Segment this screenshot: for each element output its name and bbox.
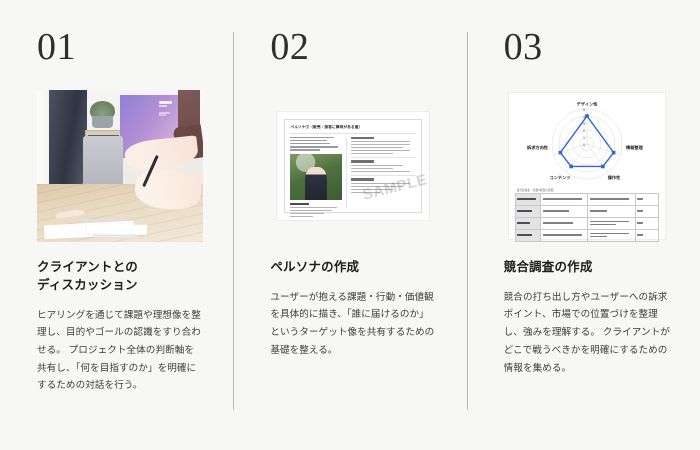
table-row-label (515, 242, 540, 243)
cell-bar (543, 210, 569, 211)
cell-bar (590, 233, 629, 234)
table-cell (541, 242, 588, 243)
cell-bar (590, 224, 616, 225)
table-cell (635, 206, 658, 218)
persona-meta-line (290, 137, 333, 139)
persona-text-line (351, 153, 394, 154)
table-cell (588, 242, 635, 243)
cell-bar (590, 221, 629, 222)
row-label-bar (517, 234, 532, 235)
screen-heading-bar (159, 101, 172, 104)
radar-axes (553, 109, 620, 172)
step-title-01-line1: クライアントとの (37, 260, 138, 274)
cell-bar (590, 210, 607, 211)
table-cell (635, 242, 658, 243)
persona-text-line (351, 189, 394, 190)
step-title-01: クライアントとの ディスカッション (37, 259, 203, 295)
persona-left-text-line (290, 213, 323, 214)
row-label-bar (517, 210, 532, 211)
radar-label-content: コンテンツ (549, 175, 570, 181)
meeting-photo (37, 90, 203, 242)
persona-text-line (351, 147, 403, 148)
photo-laptop (83, 136, 123, 185)
photo-plant-pot (92, 116, 114, 128)
persona-divider (351, 175, 417, 176)
step-number-03: 03 (504, 28, 670, 70)
cell-bar (543, 198, 582, 199)
radar-chart-svg: 5 4 3 2 1 0 デザイン性 情報整理 操作性 (515, 98, 659, 186)
table-row (515, 194, 658, 206)
row-label-bar (517, 222, 530, 223)
table-row-label (515, 206, 540, 218)
radar-label-design: デザイン性 (576, 101, 598, 108)
comparison-table-caption: 競合比較表（主要5項目の比較） (517, 188, 659, 192)
step-title-01-line2: ディスカッション (37, 278, 138, 292)
photo-notebook (93, 234, 138, 238)
table-cell (541, 230, 588, 242)
persona-document-preview: ペルソナ①〔販売・接客に興味がある層〕 (270, 90, 436, 242)
table-cell (635, 194, 658, 206)
persona-portrait-figure (305, 167, 328, 200)
persona-left-text-line (290, 210, 331, 211)
step-number-01: 01 (37, 28, 203, 70)
svg-text:3: 3 (583, 122, 585, 126)
persona-text-line (351, 171, 410, 172)
screen-text-bar-2 (159, 114, 167, 116)
persona-text-line (351, 150, 410, 151)
persona-portrait (290, 154, 341, 200)
persona-text-line (351, 183, 410, 184)
persona-document-title: ペルソナ①〔販売・接客に興味がある層〕 (290, 125, 416, 134)
table-row (515, 230, 658, 242)
persona-right-panel (346, 137, 417, 208)
slide-canvas: 01 (0, 0, 700, 450)
cell-bar (637, 198, 642, 199)
svg-text:4: 4 (583, 115, 585, 119)
step-body-01: ヒアリングを通じて課題や理想像を整理し、目的やゴールの認識をすり合わせる。 プロ… (37, 307, 203, 396)
cell-bar (543, 222, 573, 223)
step-title-02: ペルソナの作成 (270, 259, 436, 277)
table-row (515, 242, 658, 243)
radar-label-usability: 操作性 (607, 174, 620, 181)
cell-bar (637, 210, 642, 211)
step-column-02: 02 ペルソナ①〔販売・接客に興味がある層〕 (233, 0, 466, 450)
step-column-03: 03 (467, 0, 700, 450)
persona-text-line (351, 141, 410, 142)
persona-section-heading (351, 160, 375, 162)
three-column-layout: 01 (0, 0, 700, 450)
persona-meta-line (290, 146, 337, 148)
photo-hand-left (55, 209, 85, 219)
persona-left-text-line (290, 207, 336, 208)
cell-bar (590, 198, 629, 199)
persona-left-caption (290, 203, 309, 205)
table-cell (541, 194, 588, 206)
table-cell (635, 230, 658, 242)
table-cell (635, 218, 658, 230)
cell-bar (637, 222, 642, 223)
persona-text-line (351, 192, 380, 193)
persona-text-line (351, 168, 394, 169)
step-body-03: 競合の打ち出し方やユーザーへの訴求ポイント、市場での位置づけを整理し、強みを理解… (504, 289, 670, 378)
cell-bar (543, 234, 582, 235)
radar-label-appeal: 訴求方向性 (527, 144, 549, 151)
table-cell (588, 230, 635, 242)
table-cell (588, 206, 635, 218)
step-title-03: 競合調査の作成 (504, 259, 670, 277)
row-label-bar (517, 198, 536, 199)
svg-text:0: 0 (583, 143, 585, 147)
competitor-chart-preview: 5 4 3 2 1 0 デザイン性 情報整理 操作性 (504, 90, 670, 242)
screen-subheading-bar (159, 105, 168, 107)
step-number-02: 02 (270, 28, 436, 70)
svg-text:5: 5 (583, 108, 585, 112)
table-row-label (515, 218, 540, 230)
radar-axis-labels: デザイン性 情報整理 操作性 コンテンツ 訴求方向性 (527, 101, 644, 182)
table-row-label (515, 194, 540, 206)
persona-document-frame: ペルソナ①〔販売・接客に興味がある層〕 (284, 119, 422, 213)
svg-text:2: 2 (583, 129, 585, 133)
persona-left-panel (290, 137, 341, 208)
radar-chart: 5 4 3 2 1 0 デザイン性 情報整理 操作性 (515, 98, 659, 186)
table-cell (541, 218, 588, 230)
persona-divider (351, 157, 417, 158)
step-body-02: ユーザーが抱える課題・行動・価値観を具体的に描き、「誰に届けるのか」というターゲ… (270, 289, 436, 360)
persona-section-heading (351, 178, 375, 180)
persona-document-body (290, 137, 416, 208)
photo-person-left (49, 90, 87, 184)
persona-text-line (351, 165, 403, 166)
table-cell (588, 194, 635, 206)
table-row-label (515, 230, 540, 242)
persona-meta-line (290, 140, 327, 142)
persona-meta-line (290, 143, 330, 145)
cell-bar (637, 234, 642, 235)
persona-left-text-line (290, 216, 313, 217)
svg-text:1: 1 (583, 136, 585, 140)
persona-text-line (351, 186, 403, 187)
table-cell (588, 218, 635, 230)
comparison-table (515, 193, 659, 242)
cell-bar (590, 236, 607, 237)
radar-tick-labels: 5 4 3 2 1 0 (583, 108, 585, 147)
persona-document: ペルソナ①〔販売・接客に興味がある層〕 (277, 112, 429, 220)
persona-section-heading (351, 137, 375, 139)
radar-label-info: 情報整理 (626, 144, 644, 151)
persona-meta-line (290, 149, 320, 151)
table-row (515, 218, 658, 230)
step-column-01: 01 (0, 0, 233, 450)
persona-text-line (351, 144, 410, 145)
table-row (515, 206, 658, 218)
competitor-slide: 5 4 3 2 1 0 デザイン性 情報整理 操作性 (509, 93, 665, 239)
table-cell (541, 206, 588, 218)
